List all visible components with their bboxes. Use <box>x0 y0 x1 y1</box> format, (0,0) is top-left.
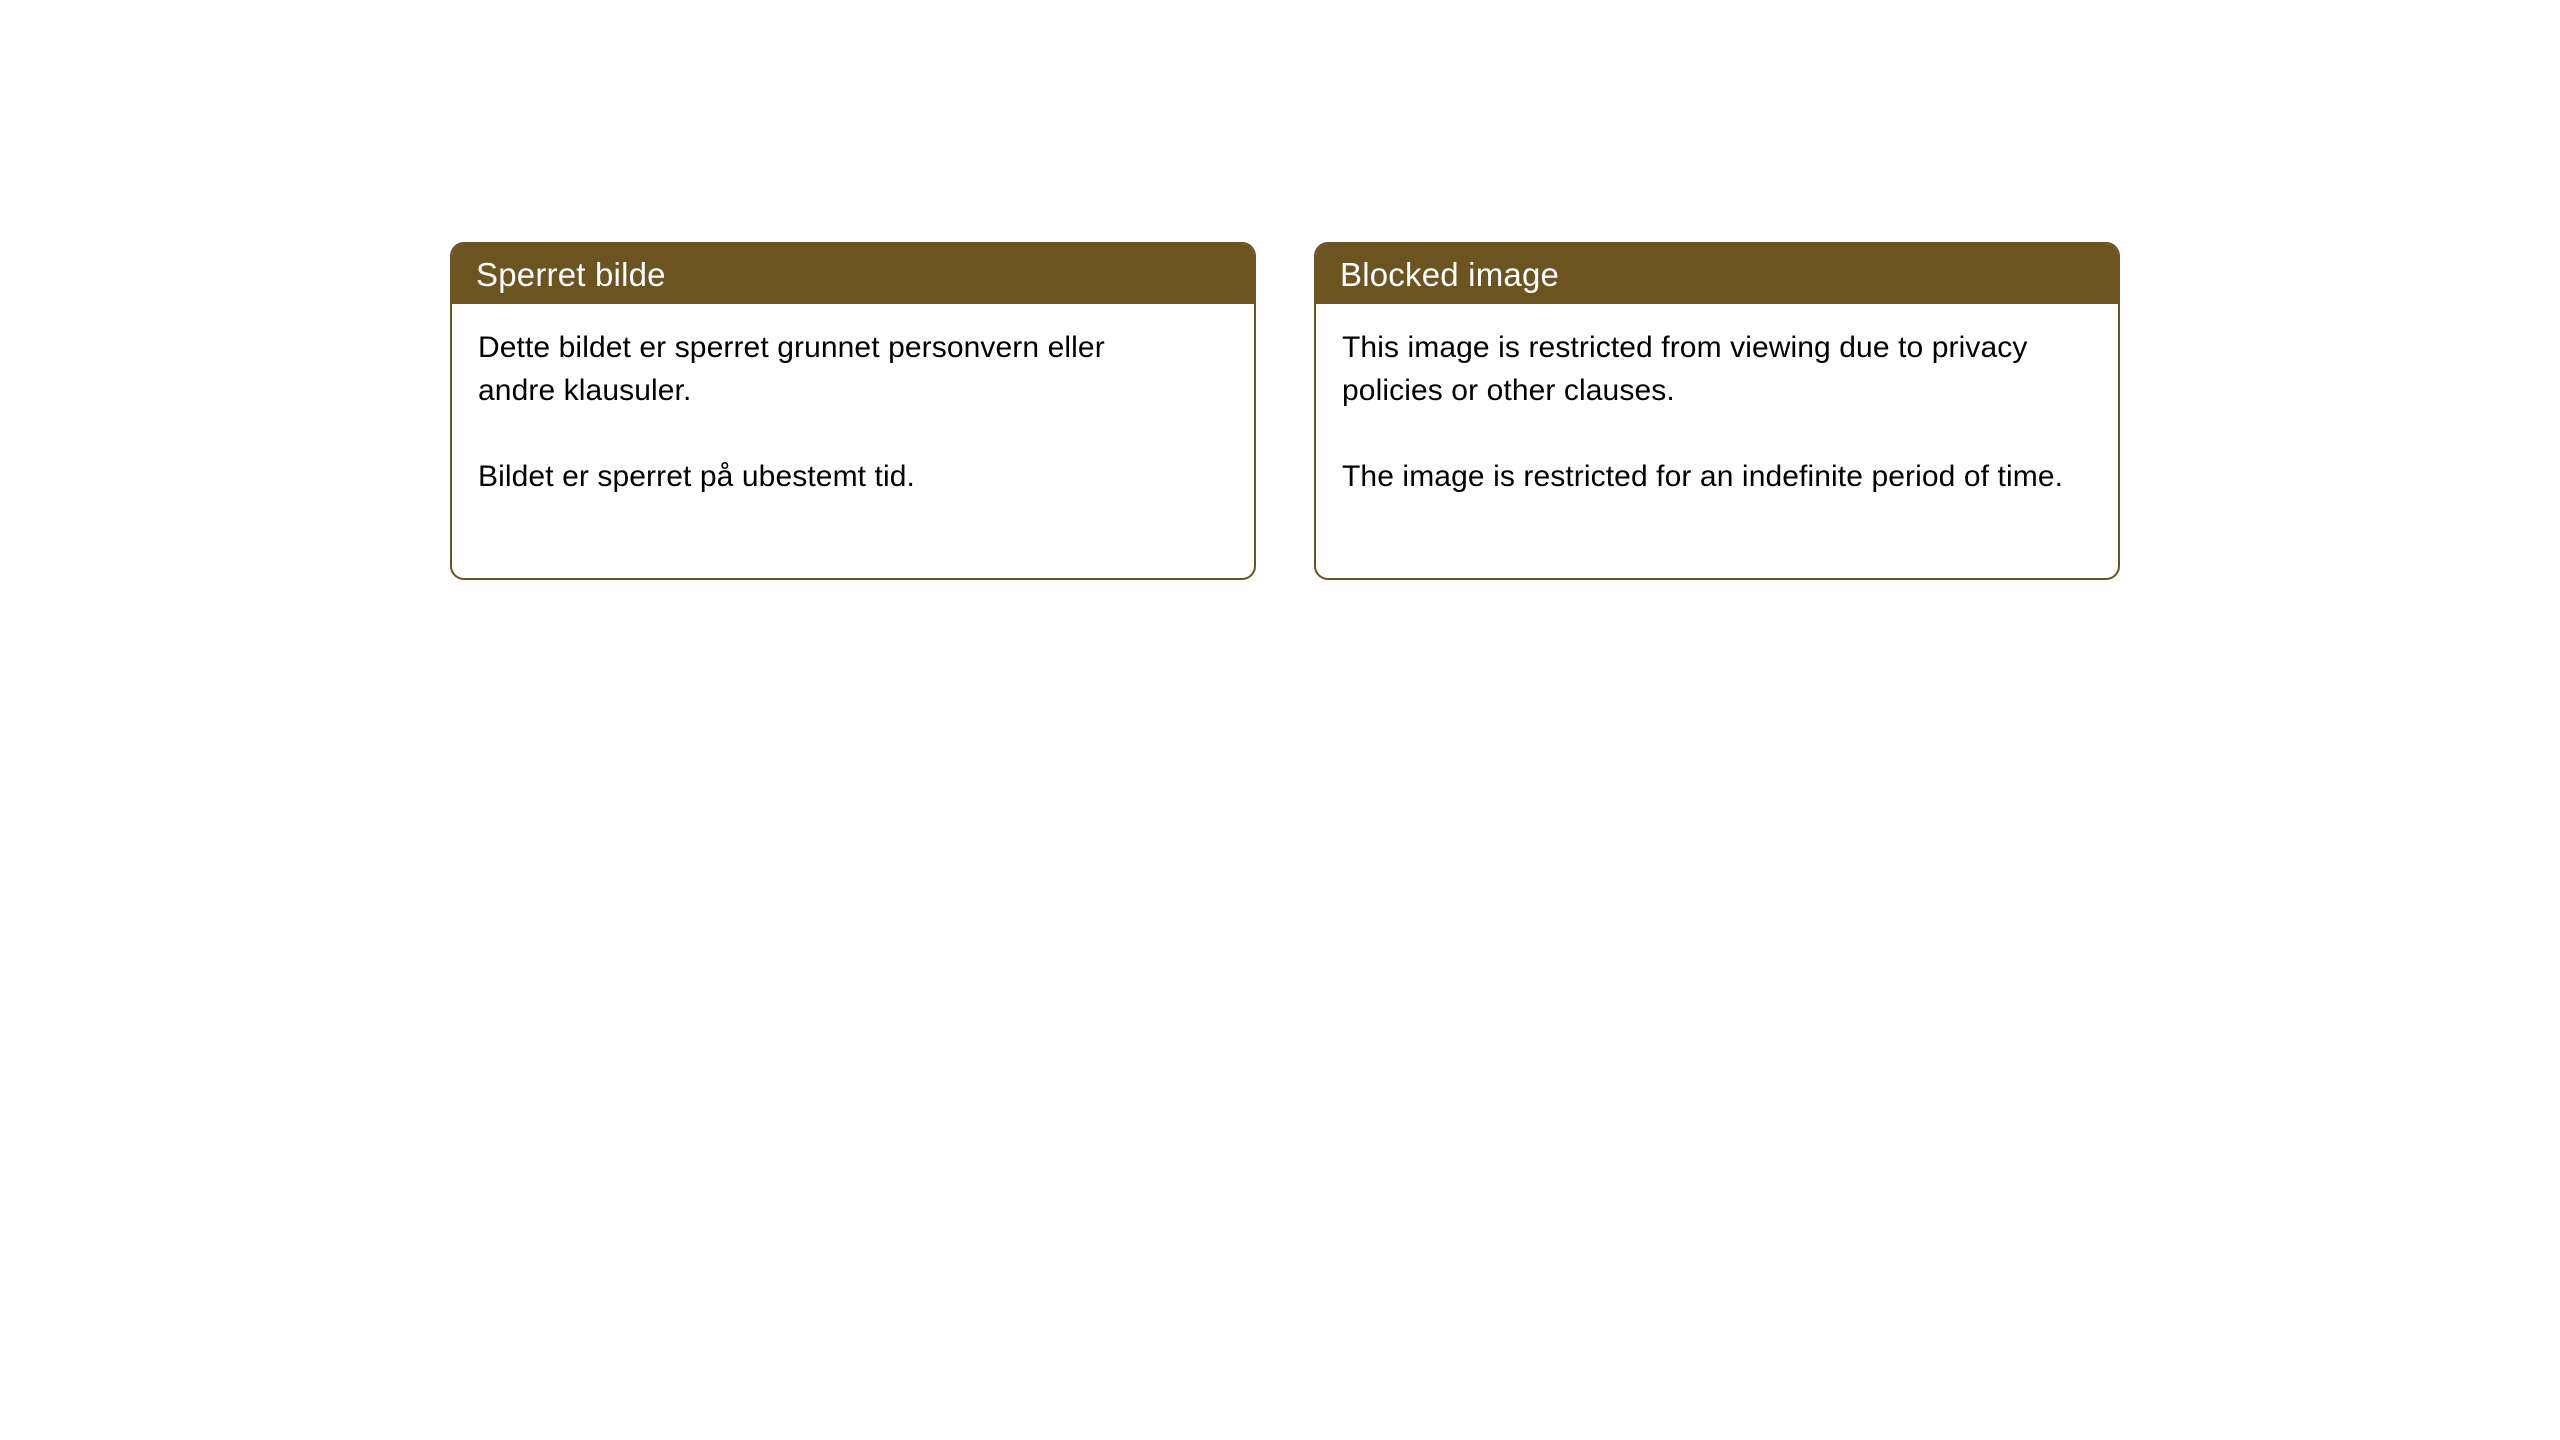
card-title-norwegian: Sperret bilde <box>476 258 666 291</box>
blocked-image-notice-card-english: Blocked image This image is restricted f… <box>1314 242 2120 580</box>
card-paragraph-secondary-norwegian: Bildet er sperret på ubestemt tid. <box>478 455 1178 498</box>
page-root: Sperret bilde Dette bildet er sperret gr… <box>0 0 2560 1440</box>
card-title-english: Blocked image <box>1340 258 1559 291</box>
card-body-norwegian: Dette bildet er sperret grunnet personve… <box>452 304 1254 498</box>
card-body-english: This image is restricted from viewing du… <box>1316 304 2118 498</box>
card-header-norwegian: Sperret bilde <box>452 244 1254 304</box>
card-header-english: Blocked image <box>1316 244 2118 304</box>
card-paragraph-primary-english: This image is restricted from viewing du… <box>1342 326 2082 412</box>
card-paragraph-secondary-english: The image is restricted for an indefinit… <box>1342 455 2082 498</box>
blocked-image-notice-card-norwegian: Sperret bilde Dette bildet er sperret gr… <box>450 242 1256 580</box>
card-paragraph-primary-norwegian: Dette bildet er sperret grunnet personve… <box>478 326 1178 412</box>
